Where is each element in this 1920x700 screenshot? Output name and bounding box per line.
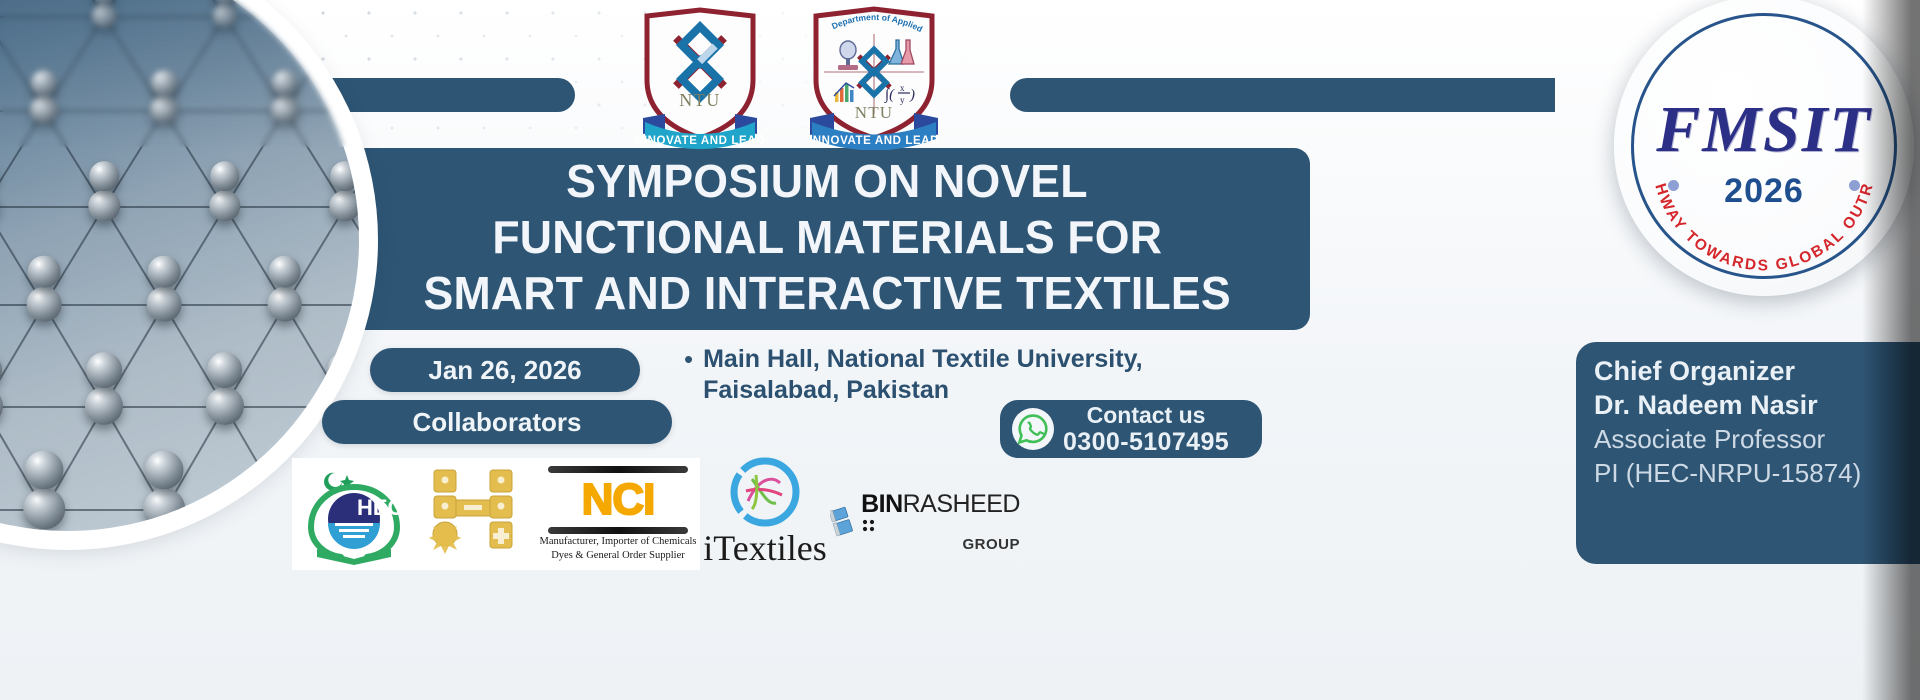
organizer-project: PI (HEC-NRPU-15874) bbox=[1594, 456, 1914, 490]
badge-dot-right bbox=[1849, 180, 1860, 191]
ntu-ribbon-text: INNOVATE AND LEAD bbox=[635, 135, 765, 147]
svg-text:): ) bbox=[909, 87, 915, 103]
contact-label: Contact us bbox=[1063, 402, 1229, 429]
nci-abbr: NCI bbox=[582, 475, 655, 525]
venue-line-1: Main Hall, National Textile University, bbox=[703, 344, 1142, 375]
hec-abbr: HEC bbox=[357, 495, 404, 520]
nci-tagline-line-2: Dyes & General Order Supplier bbox=[551, 550, 685, 562]
logo-h-ornament bbox=[416, 458, 536, 570]
header-bar-right bbox=[1010, 78, 1555, 112]
event-banner: NTU INNOVATE AND LEAD Department of Appl… bbox=[0, 0, 1920, 700]
applied-science-ribbon-text: INNOVATE AND LEAD bbox=[809, 135, 939, 147]
fmsit-badge: A PATHWAY TOWARDS GLOBAL OUTREACH FMSIT … bbox=[1614, 0, 1914, 296]
event-venue: • Main Hall, National Textile University… bbox=[684, 344, 1204, 406]
title-line-3: SMART AND INTERACTIVE TEXTILES bbox=[423, 265, 1230, 321]
nci-tagline-line-1: Manufacturer, Importer of Chemicals bbox=[539, 536, 696, 548]
applied-science-shield-abbr: NTU bbox=[855, 103, 894, 122]
collaborators-pill: Collaborators bbox=[322, 400, 672, 444]
binrasheed-part-2: RASHEED bbox=[903, 490, 1020, 518]
fmsit-year: 2026 bbox=[1614, 172, 1914, 211]
organizer-designation: Associate Professor bbox=[1594, 422, 1914, 456]
contact-pill[interactable]: Contact us 0300-5107495 bbox=[1000, 400, 1262, 458]
binrasheed-part-1: BIN bbox=[861, 490, 903, 518]
contact-phone: 0300-5107495 bbox=[1063, 429, 1229, 456]
svg-text:y: y bbox=[900, 95, 905, 105]
organizer-role: Chief Organizer bbox=[1594, 354, 1914, 388]
bullet-icon: • bbox=[684, 344, 693, 406]
svg-text:∫(: ∫( bbox=[884, 87, 895, 103]
logo-binrasheed: BINRASHEED GROUP bbox=[830, 474, 1020, 570]
title-line-1: SYMPOSIUM ON NOVEL bbox=[566, 153, 1088, 209]
title-line-2: FUNCTIONAL MATERIALS FOR bbox=[492, 209, 1162, 265]
logo-itextiles: iTextiles bbox=[700, 452, 830, 570]
event-date-pill: Jan 26, 2026 bbox=[370, 348, 640, 392]
badge-dot-left bbox=[1668, 180, 1679, 191]
organizer-name: Dr. Nadeem Nasir bbox=[1594, 388, 1914, 422]
ntu-shield-abbr: NTU bbox=[679, 90, 721, 110]
chief-organizer-panel: Chief Organizer Dr. Nadeem Nasir Associa… bbox=[1576, 342, 1920, 564]
logo-hec: HEC bbox=[292, 458, 416, 570]
whatsapp-icon bbox=[1012, 408, 1054, 450]
event-title: SYMPOSIUM ON NOVEL FUNCTIONAL MATERIALS … bbox=[310, 148, 1310, 330]
ntu-shield-logo: NTU INNOVATE AND LEAD bbox=[635, 4, 765, 150]
itextiles-wordmark: iTextiles bbox=[703, 527, 826, 569]
collaborator-logos: HEC bbox=[292, 452, 1020, 570]
applied-science-shield-logo: Department of Applied Science bbox=[800, 2, 948, 150]
fmsit-acronym: FMSIT bbox=[1614, 92, 1914, 168]
logo-nci: NCI Manufacturer, Importer of Chemicals … bbox=[536, 458, 700, 570]
svg-text:x: x bbox=[900, 83, 905, 93]
binrasheed-part-3: GROUP bbox=[861, 537, 1020, 552]
